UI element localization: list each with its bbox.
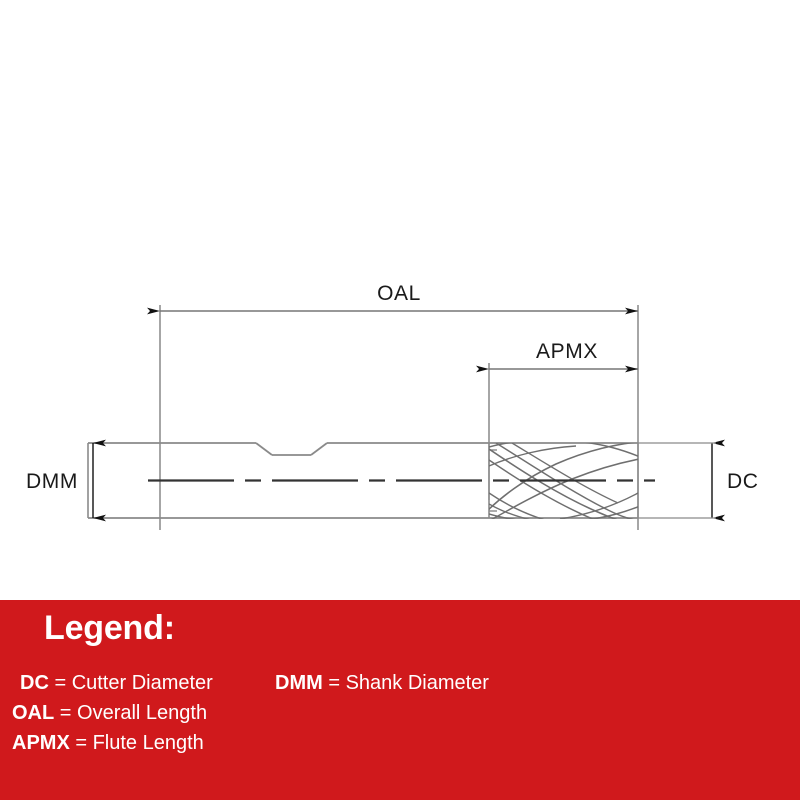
flute-helix-edge-8	[512, 443, 618, 503]
legend-title: Legend:	[44, 608, 175, 649]
legend-equals-oal: =	[54, 702, 77, 724]
legend-definition-oal: Overall Length	[77, 702, 207, 724]
legend-abbr-apmx: APMX	[12, 732, 70, 754]
legend-abbr-dmm: DMM	[275, 672, 323, 694]
legend-abbr-dc: DC	[20, 672, 49, 694]
legend-row: OAL = Overall Length	[0, 698, 800, 728]
apmx-dimension: APMX	[489, 340, 638, 500]
legend-abbr-oal: OAL	[12, 702, 54, 724]
technical-drawing: OAL APMX	[0, 0, 800, 600]
oal-label: OAL	[377, 282, 421, 305]
legend-entry-oal: OAL = Overall Length	[12, 698, 207, 728]
legend-row: DC = Cutter Diameter DMM = Shank Diamete…	[0, 668, 800, 698]
apmx-label: APMX	[536, 340, 598, 363]
legend-row: APMX = Flute Length	[0, 728, 800, 758]
legend-definition-apmx: Flute Length	[93, 732, 204, 754]
legend-band: Legend: DC = Cutter Diameter DMM = Shank…	[0, 600, 800, 800]
shank-notch-ramp-right	[311, 443, 327, 455]
legend-entry-apmx: APMX = Flute Length	[12, 728, 204, 758]
end-mill-drawing-svg: OAL APMX	[0, 0, 800, 600]
dc-label: DC	[727, 470, 759, 493]
flute-helix-edge-2	[489, 460, 605, 524]
dmm-label: DMM	[26, 470, 78, 493]
dc-dimension: DC	[638, 443, 759, 518]
legend-rows: DC = Cutter Diameter DMM = Shank Diamete…	[0, 668, 800, 758]
legend-equals-dmm: =	[323, 672, 346, 694]
legend-equals-apmx: =	[70, 732, 93, 754]
legend-equals-dc: =	[49, 672, 72, 694]
legend-entry-dc: DC = Cutter Diameter	[20, 668, 213, 698]
legend-entry-dmm: DMM = Shank Diameter	[275, 668, 489, 698]
legend-definition-dmm: Shank Diameter	[346, 672, 489, 694]
flute-helix-group	[485, 440, 645, 527]
dmm-dimension: DMM	[26, 443, 93, 518]
page-root: OAL APMX	[0, 0, 800, 800]
shank-notch-ramp-left	[256, 443, 272, 455]
legend-definition-dc: Cutter Diameter	[72, 672, 213, 694]
oal-dimension: OAL	[160, 282, 638, 530]
